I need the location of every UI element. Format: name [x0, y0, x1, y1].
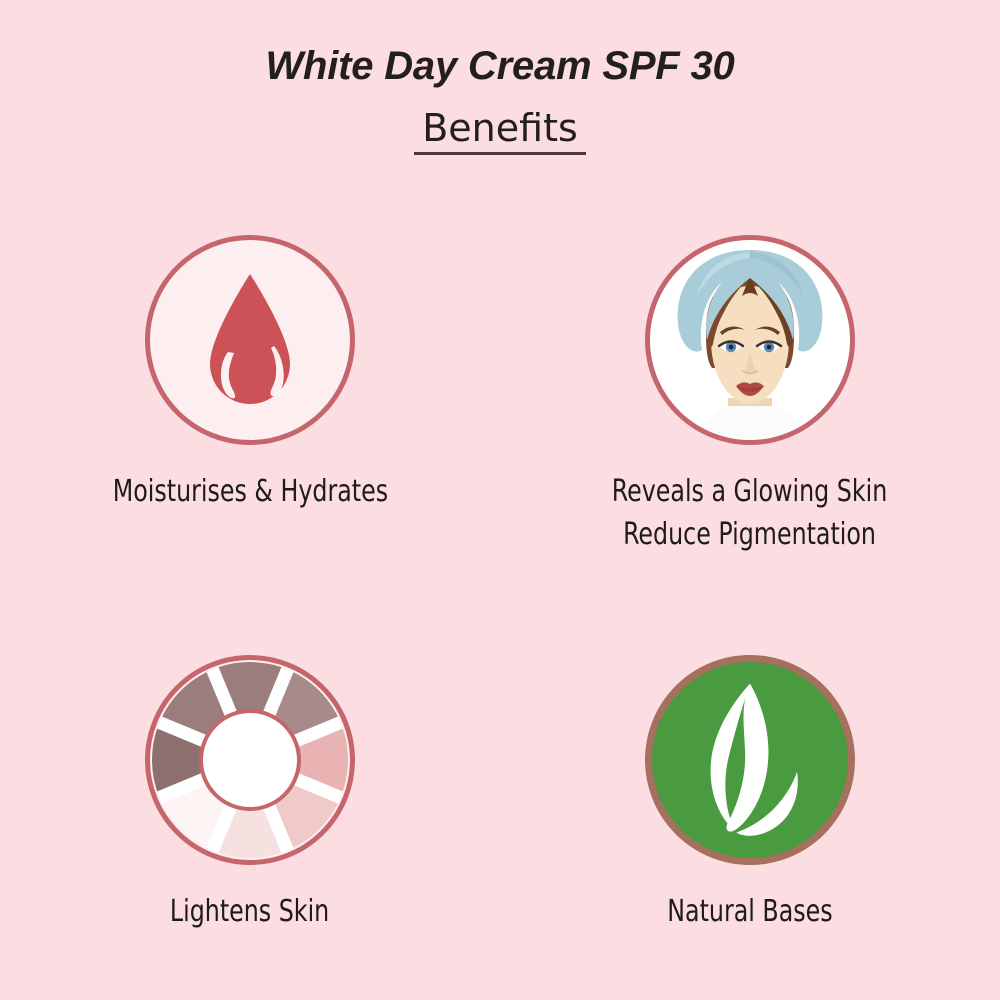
benefit-item-glowing-skin: Reveals a Glowing Skin Reduce Pigmentati… [500, 235, 1000, 556]
section-title: Benefits [414, 109, 586, 155]
benefit-item-lightens-skin: Lightens Skin [0, 655, 500, 934]
water-droplet-icon [145, 235, 355, 445]
section-title-wrap: Benefits [0, 109, 1000, 155]
benefit-caption: Reveals a Glowing Skin Reduce Pigmentati… [612, 471, 888, 556]
skin-tone-wheel-icon [145, 655, 355, 865]
header: White Day Cream SPF 30 Benefits [0, 0, 1000, 155]
page-title: White Day Cream SPF 30 [0, 0, 1000, 89]
benefit-row: Moisturises & Hydrates [0, 235, 1000, 556]
benefit-row: Lightens Skin Natural Bases [0, 655, 1000, 934]
benefit-item-moisturises: Moisturises & Hydrates [0, 235, 500, 556]
benefit-caption: Lightens Skin [170, 891, 329, 934]
caption-line: Moisturises & Hydrates [112, 471, 387, 514]
caption-line: Reduce Pigmentation [612, 514, 888, 557]
woman-face-towel-icon [645, 235, 855, 445]
benefit-caption: Moisturises & Hydrates [112, 471, 387, 514]
green-leaves-icon [645, 655, 855, 865]
benefit-caption: Natural Bases [667, 891, 832, 934]
caption-line: Reveals a Glowing Skin [612, 471, 888, 514]
benefit-item-natural-bases: Natural Bases [500, 655, 1000, 934]
caption-line: Lightens Skin [170, 891, 329, 934]
caption-line: Natural Bases [667, 891, 832, 934]
